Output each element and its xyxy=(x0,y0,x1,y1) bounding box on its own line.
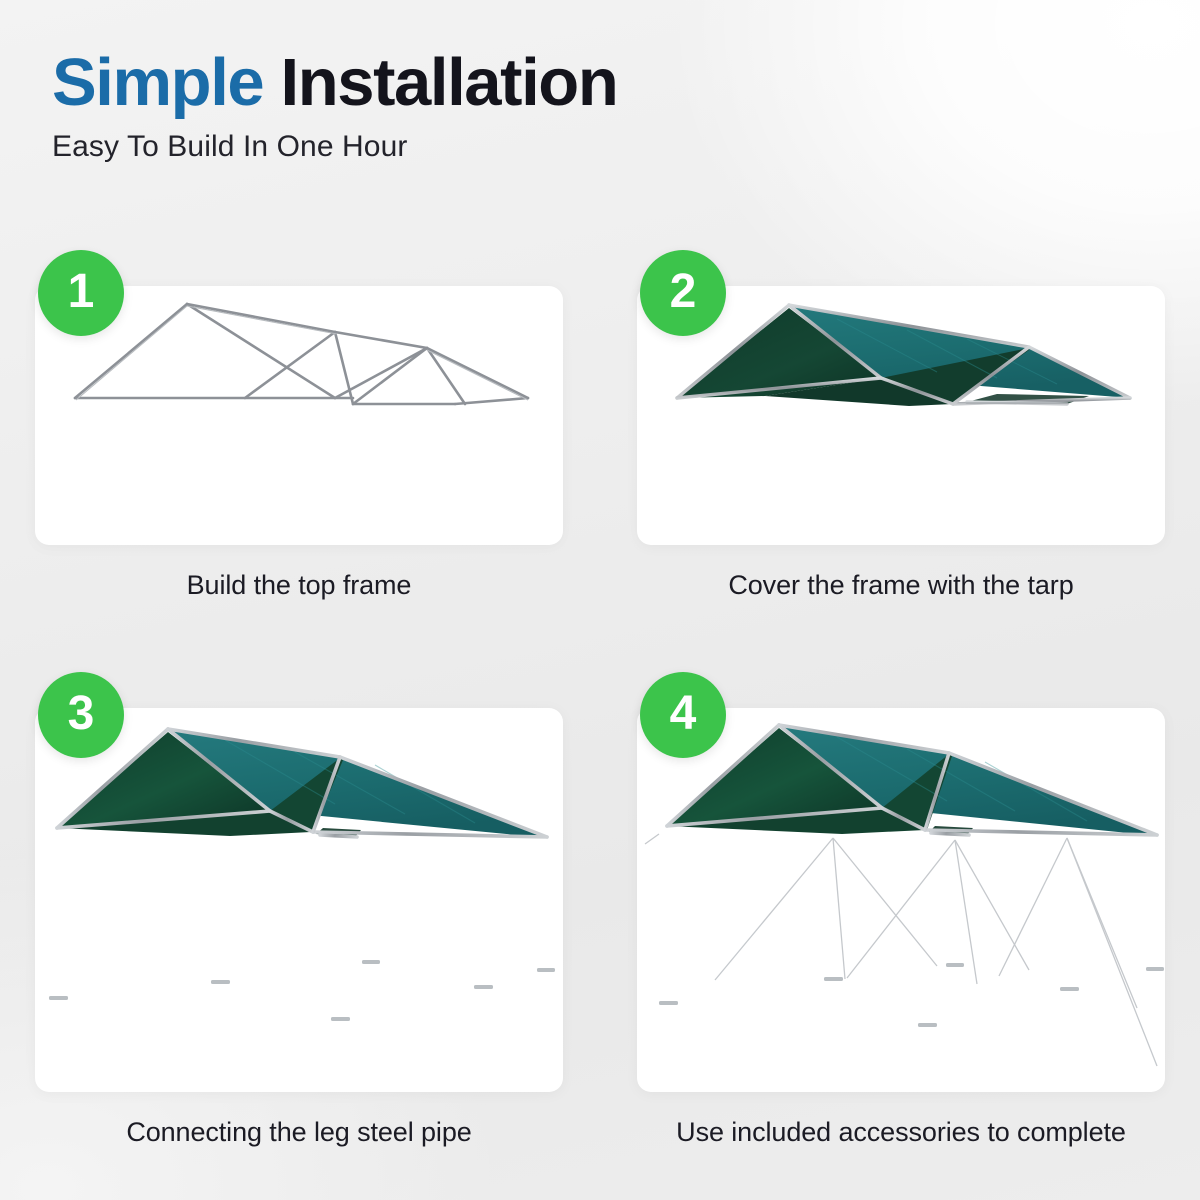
page-subtitle: Easy To Build In One Hour xyxy=(52,130,1102,164)
step-badge-3: 3 xyxy=(38,672,124,758)
installation-infographic: Simple Installation Easy To Build In One… xyxy=(0,0,1200,1200)
step-caption-1: Build the top frame xyxy=(35,570,563,601)
carport-with-legs-illustration xyxy=(35,708,563,1092)
carport-complete-with-guy-wires-illustration xyxy=(637,708,1165,1092)
step-badge-2: 2 xyxy=(640,250,726,336)
carport-bare-frame-illustration xyxy=(35,286,563,545)
step-caption-2: Cover the frame with the tarp xyxy=(637,570,1165,601)
step-image-card-1 xyxy=(35,286,563,545)
step-badge-4: 4 xyxy=(640,672,726,758)
step-caption-3: Connecting the leg steel pipe xyxy=(35,1117,563,1148)
step-caption-4: Use included accessories to complete xyxy=(637,1117,1165,1148)
step-badge-1: 1 xyxy=(38,250,124,336)
step-image-card-3 xyxy=(35,708,563,1092)
step-image-card-4 xyxy=(637,708,1165,1092)
page-title: Simple Installation xyxy=(52,48,1102,118)
step-image-card-2 xyxy=(637,286,1165,545)
carport-frame-with-tarp-illustration xyxy=(637,286,1165,545)
header: Simple Installation Easy To Build In One… xyxy=(52,48,1102,164)
page-title-accent: Simple xyxy=(52,45,263,120)
page-title-rest: Installation xyxy=(281,45,618,120)
